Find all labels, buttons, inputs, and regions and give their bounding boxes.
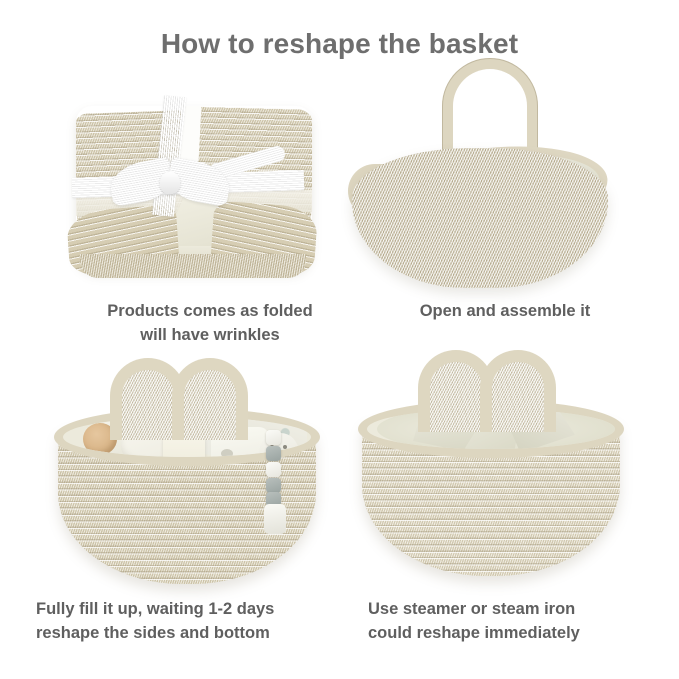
step-4-caption: Use steamer or steam iron could reshape … bbox=[368, 598, 668, 646]
empty-basket-handle-right bbox=[480, 350, 556, 432]
clip-bead bbox=[266, 446, 281, 461]
step-4-image bbox=[356, 344, 634, 594]
clip-holder bbox=[264, 504, 286, 534]
step-2-image bbox=[346, 56, 614, 294]
roll-bottom-edge bbox=[80, 254, 306, 278]
basket-woven-body bbox=[352, 148, 608, 288]
step-3-image: Aveeno bbox=[52, 352, 322, 594]
infographic-page: How to reshape the basket Products comes… bbox=[0, 0, 679, 679]
step-1-image bbox=[62, 96, 328, 292]
page-title: How to reshape the basket bbox=[0, 28, 679, 60]
step-1-caption: Products comes as folded will have wrink… bbox=[70, 300, 350, 348]
clip-bead bbox=[266, 478, 281, 493]
ribbon-bow-knot bbox=[160, 172, 180, 194]
filled-basket-handle-right bbox=[172, 358, 248, 440]
clip-bead bbox=[266, 430, 281, 445]
folded-basket-illustration bbox=[62, 96, 328, 292]
pacifier-clip bbox=[266, 430, 284, 526]
step-2-caption: Open and assemble it bbox=[380, 300, 630, 324]
clip-bead bbox=[266, 462, 281, 477]
step-3-caption: Fully fill it up, waiting 1-2 days resha… bbox=[36, 598, 366, 646]
